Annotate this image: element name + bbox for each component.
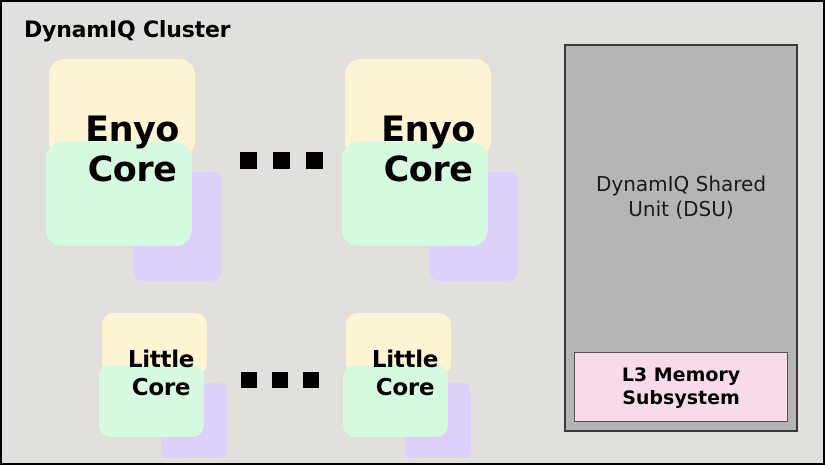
dynamiq-cluster-diagram: DynamIQ Cluster Enyo Core Enyo Core Litt… (0, 0, 825, 465)
ellipsis-square-icon (240, 152, 257, 169)
ellipsis-square-icon (273, 152, 290, 169)
ellipsis-square-icon (272, 372, 288, 388)
core-layer-front (342, 142, 488, 246)
little-core-ellipsis (241, 372, 319, 388)
ellipsis-square-icon (303, 372, 319, 388)
enyo-core-block[interactable]: Enyo Core (342, 59, 518, 281)
ellipsis-square-icon (241, 372, 257, 388)
core-layer-front (343, 365, 448, 437)
ellipsis-square-icon (306, 152, 323, 169)
dsu-label-line-1: DynamIQ Shared (596, 172, 766, 197)
enyo-core-block[interactable]: Enyo Core (46, 59, 222, 281)
l3-label-line-1: L3 Memory (622, 364, 740, 387)
big-core-ellipsis (240, 152, 323, 169)
dynamiq-shared-unit-block[interactable]: DynamIQ Shared Unit (DSU) L3 Memory Subs… (564, 44, 798, 432)
core-layer-front (46, 142, 192, 246)
l3-memory-subsystem-block[interactable]: L3 Memory Subsystem (574, 352, 788, 422)
core-layer-front (99, 365, 204, 437)
little-core-block[interactable]: Little Core (343, 313, 471, 458)
cluster-title: DynamIQ Cluster (24, 18, 230, 43)
little-core-block[interactable]: Little Core (99, 313, 227, 458)
dsu-label-line-2: Unit (DSU) (628, 197, 733, 222)
l3-label-line-2: Subsystem (622, 387, 740, 410)
